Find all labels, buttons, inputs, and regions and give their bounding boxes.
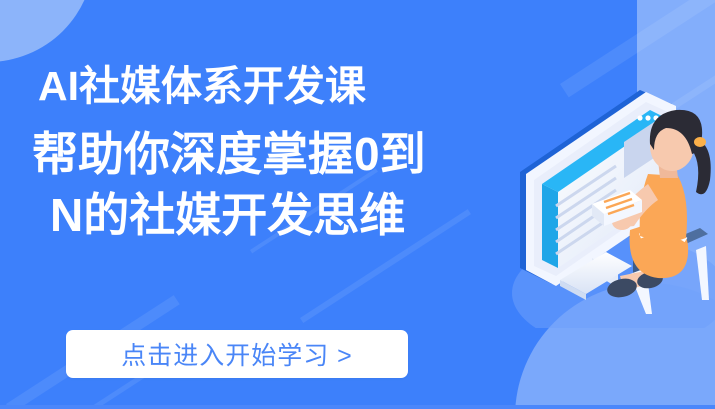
headline-line-2: 帮助你深度掌握0到 [32,131,528,177]
promo-banner: AI社媒体系开发课 帮助你深度掌握0到 N的社媒开发思维 点击进入开始学习 > [0,0,715,409]
window-dot-icon [645,115,650,120]
hair-tie [694,137,706,147]
window-dot-icon [637,115,642,120]
browser-titlebar-side [542,184,558,268]
page-title: AI社媒体系开发课 帮助你深度掌握0到 N的社媒开发思维 [38,66,528,238]
hero-illustration [500,88,715,328]
headline-line-3: N的社媒开发思维 [50,192,528,238]
start-learning-button-label: 点击进入开始学习 > [121,336,353,372]
headline-line-1: AI社媒体系开发课 [38,66,528,107]
bottom-band [0,405,715,409]
start-learning-button[interactable]: 点击进入开始学习 > [66,330,408,378]
